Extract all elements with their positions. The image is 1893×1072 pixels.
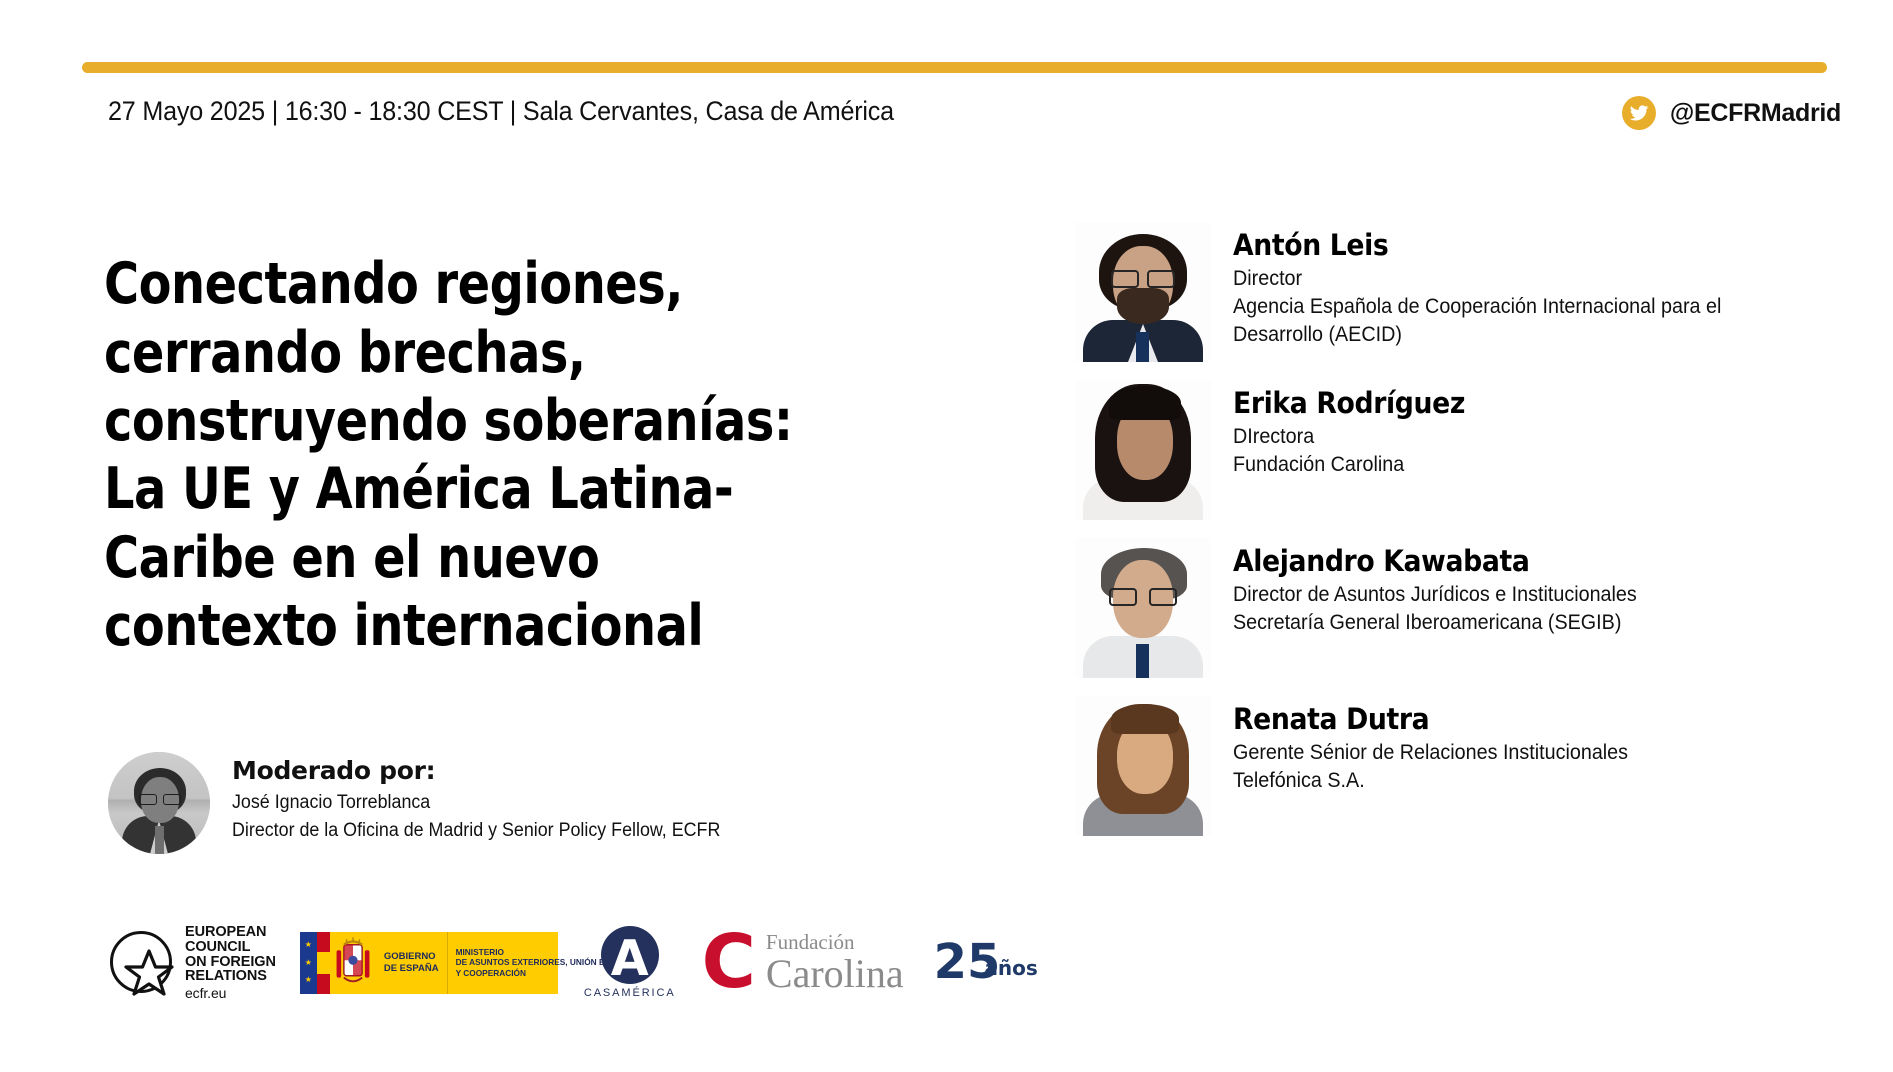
page-title: Conectando regiones, cerrando brechas, c… xyxy=(104,250,818,660)
event-poster: 27 Mayo 2025 | 16:30 - 18:30 CEST | Sala… xyxy=(0,0,1893,1072)
carolina-line-2: Carolina xyxy=(766,954,904,994)
speaker-org-line: Telefónica S.A. xyxy=(1233,767,1628,795)
event-datetime-venue: 27 Mayo 2025 | 16:30 - 18:30 CEST | Sala… xyxy=(108,96,894,127)
flag-red-bars xyxy=(317,932,330,994)
speaker-org-line: Secretaría General Iberoamericana (SEGIB… xyxy=(1233,609,1637,637)
speaker-org-line: Agencia Española de Cooperación Internac… xyxy=(1233,293,1721,321)
speaker-item: Erika Rodríguez DIrectora Fundación Caro… xyxy=(1075,380,1865,520)
casa-america-letter: A xyxy=(611,934,649,983)
speaker-role: Gerente Sénior de Relaciones Institucion… xyxy=(1233,739,1628,767)
top-gold-rule xyxy=(82,62,1827,73)
speaker-item: Antón Leis Director Agencia Española de … xyxy=(1075,222,1865,362)
logo-25-anos: 25 años xyxy=(934,943,1038,982)
speaker-name: Antón Leis xyxy=(1233,228,1711,262)
ecfr-star-circle-icon xyxy=(108,929,176,997)
moderator-label: Moderado por: xyxy=(232,756,752,785)
speaker-role: Director xyxy=(1233,265,1721,293)
logo-gobierno-de-espana: ★★★ xyxy=(300,932,558,994)
ecfr-line-4: RELATIONS xyxy=(185,969,276,984)
ecfr-line-1: EUROPEAN xyxy=(185,925,276,940)
logo-ecfr: EUROPEAN COUNCIL ON FOREIGN RELATIONS ec… xyxy=(108,925,276,1000)
speaker-name: Renata Dutra xyxy=(1233,702,1620,736)
header-row: 27 Mayo 2025 | 16:30 - 18:30 CEST | Sala… xyxy=(108,96,1833,127)
twitter-bird-icon xyxy=(1622,96,1656,130)
speaker-role: DIrectora xyxy=(1233,423,1470,451)
logo-fundacion-carolina: C Fundación Carolina xyxy=(702,932,904,994)
gobierno-line-1: GOBIERNO xyxy=(384,951,439,963)
casa-america-a-circle-icon: A xyxy=(601,926,659,984)
speaker-name: Erika Rodríguez xyxy=(1233,386,1465,420)
moderator-role: Director de la Oficina de Madrid y Senio… xyxy=(232,817,720,845)
speaker-portrait xyxy=(1075,538,1211,678)
speaker-portrait xyxy=(1075,222,1211,362)
speaker-name: Alejandro Kawabata xyxy=(1233,544,1628,578)
speaker-role: Director de Asuntos Jurídicos e Instituc… xyxy=(1233,581,1637,609)
gobierno-line-2: DE ESPAÑA xyxy=(384,963,439,975)
ecfr-url: ecfr.eu xyxy=(185,986,276,1000)
gobierno-text: GOBIERNO DE ESPAÑA xyxy=(376,932,448,994)
twitter-handle[interactable]: @ECFRMadrid xyxy=(1670,99,1841,128)
ecfr-line-2: COUNCIL xyxy=(185,940,276,955)
speaker-item: Renata Dutra Gerente Sénior de Relacione… xyxy=(1075,696,1865,836)
speaker-org-line: Desarrollo (AECID) xyxy=(1233,321,1721,349)
moderator-block: Moderado por: José Ignacio Torreblanca D… xyxy=(108,752,868,854)
fundacion-carolina-c-icon: C xyxy=(702,933,756,992)
moderator-avatar xyxy=(108,752,210,854)
carolina-line-1: Fundación xyxy=(766,932,904,953)
twitter-block[interactable]: @ECFRMadrid xyxy=(1622,96,1841,130)
spain-coat-of-arms-icon xyxy=(330,932,376,994)
moderator-name: José Ignacio Torreblanca xyxy=(232,789,720,817)
speaker-item: Alejandro Kawabata Director de Asuntos J… xyxy=(1075,538,1865,678)
sponsor-logo-bar: EUROPEAN COUNCIL ON FOREIGN RELATIONS ec… xyxy=(108,925,1038,1000)
eu-stars-strip: ★★★ xyxy=(300,932,317,994)
speakers-list: Antón Leis Director Agencia Española de … xyxy=(1075,222,1865,854)
speaker-org-line: Fundación Carolina xyxy=(1233,451,1470,479)
ecfr-line-3: ON FOREIGN xyxy=(185,955,276,970)
speaker-portrait xyxy=(1075,380,1211,520)
speaker-portrait xyxy=(1075,696,1211,836)
anniversary-word: años xyxy=(984,956,1037,980)
